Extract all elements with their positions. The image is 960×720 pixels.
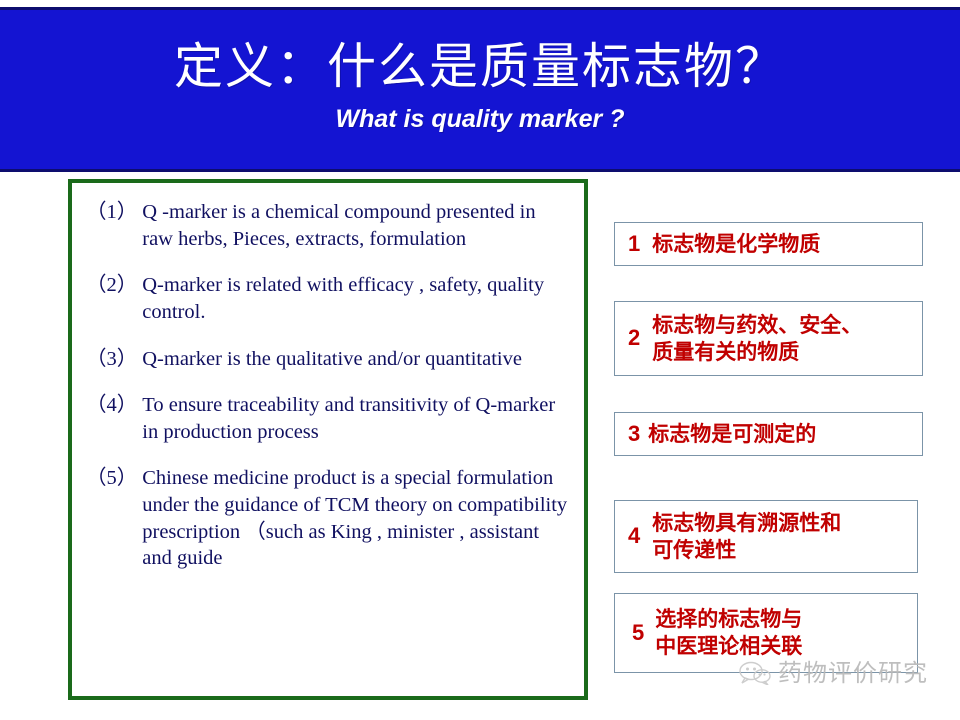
key-point-text: 标志物与药效、安全、 质量有关的物质: [652, 312, 922, 366]
definition-item-number: （3）: [86, 346, 142, 373]
definition-item: （2） Q-marker is related with efficacy , …: [86, 272, 570, 325]
definition-item: （1） Q -marker is a chemical compound pre…: [86, 199, 570, 252]
key-point-number: 2: [628, 326, 652, 350]
definition-item: （4） To ensure traceability and transitiv…: [86, 392, 570, 445]
definition-item-text: To ensure traceability and transitivity …: [142, 392, 570, 445]
key-point-text: 标志物是化学物质: [652, 231, 922, 258]
key-point-box-1: 1 标志物是化学物质: [614, 222, 923, 266]
definition-item-text: Q-marker is related with efficacy , safe…: [142, 272, 570, 325]
watermark-text: 药物评价研究: [778, 661, 928, 685]
key-point-box-3: 3 标志物是可测定的: [614, 412, 923, 456]
page-title-chinese: 定义：什么是质量标志物？: [0, 10, 960, 91]
definition-item-number: （1）: [86, 199, 142, 226]
key-point-text: 选择的标志物与 中医理论相关联: [655, 606, 917, 660]
key-point-box-2: 2 标志物与药效、安全、 质量有关的物质: [614, 301, 923, 376]
key-point-number: 4: [628, 524, 652, 548]
definition-item-text: Chinese medicine product is a special fo…: [142, 465, 570, 572]
title-banner: 定义：什么是质量标志物？ What is quality marker ?: [0, 7, 960, 172]
watermark: 药物评价研究: [738, 661, 928, 685]
key-point-box-4: 4 标志物具有溯源性和 可传递性: [614, 500, 918, 573]
key-point-number: 1: [628, 232, 652, 256]
definition-item-number: （4）: [86, 392, 142, 419]
key-point-number: 5: [628, 621, 655, 645]
definition-item-text: Q-marker is the qualitative and/or quant…: [142, 346, 570, 373]
wechat-bubble-icon: [738, 661, 772, 685]
key-point-number: 3: [628, 422, 648, 446]
definition-item-text: Q -marker is a chemical compound present…: [142, 199, 570, 252]
definition-item: （5） Chinese medicine product is a specia…: [86, 465, 570, 572]
key-point-text: 标志物具有溯源性和 可传递性: [652, 510, 917, 564]
page-title-english: What is quality marker ?: [0, 91, 960, 132]
definition-item-number: （2）: [86, 272, 142, 299]
definition-box: （1） Q -marker is a chemical compound pre…: [68, 179, 588, 700]
definition-item-number: （5）: [86, 465, 142, 492]
definition-item: （3） Q-marker is the qualitative and/or q…: [86, 346, 570, 373]
key-point-text: 标志物是可测定的: [648, 421, 922, 448]
